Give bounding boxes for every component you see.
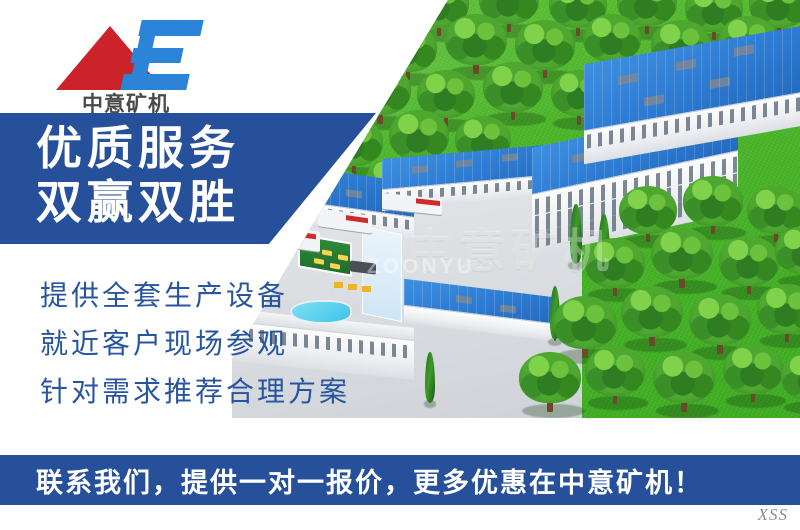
tree: [780, 352, 800, 412]
selling-point-3: 针对需求推荐合理方案: [40, 368, 350, 416]
company-logo: 中意矿机: [52, 8, 200, 112]
logo-e-top-icon: [138, 20, 203, 36]
banner-canvas: 中意矿机 ZOONYU 中意矿机 优质服务 双赢双胜 提供全套生产设备 就近客户…: [0, 0, 800, 530]
corner-watermark: XSS: [718, 505, 788, 525]
flagpole: [360, 286, 362, 316]
bottom-cta-text: 联系我们，提供一对一报价，更多优惠在中意矿机！: [36, 455, 703, 505]
selling-point-2: 就近客户现场参观: [40, 320, 350, 368]
cypress-tree: [420, 352, 440, 406]
headline-line-2: 双赢双胜: [36, 179, 240, 225]
headline-line-1: 优质服务: [36, 125, 240, 171]
tree: [482, 62, 544, 124]
tree: [774, 226, 800, 286]
tree: [756, 284, 800, 346]
tree: [620, 286, 684, 350]
selling-points-list: 提供全套生产设备 就近客户现场参观 针对需求推荐合理方案: [40, 272, 350, 416]
tree: [584, 346, 646, 408]
logo-e-middle-icon: [130, 48, 183, 63]
tree: [652, 352, 716, 416]
selling-point-1: 提供全套生产设备: [40, 272, 350, 320]
factory-hall-building: [584, 44, 800, 148]
annex-building: [404, 288, 554, 332]
lawn-patch: [236, 242, 270, 263]
tree: [722, 344, 784, 406]
advert-billboard: [362, 226, 402, 323]
bottom-cta-bar[interactable]: 联系我们，提供一对一报价，更多优惠在中意矿机！: [0, 455, 800, 505]
tree: [340, 0, 404, 46]
tree: [518, 352, 582, 416]
tree: [650, 228, 714, 292]
